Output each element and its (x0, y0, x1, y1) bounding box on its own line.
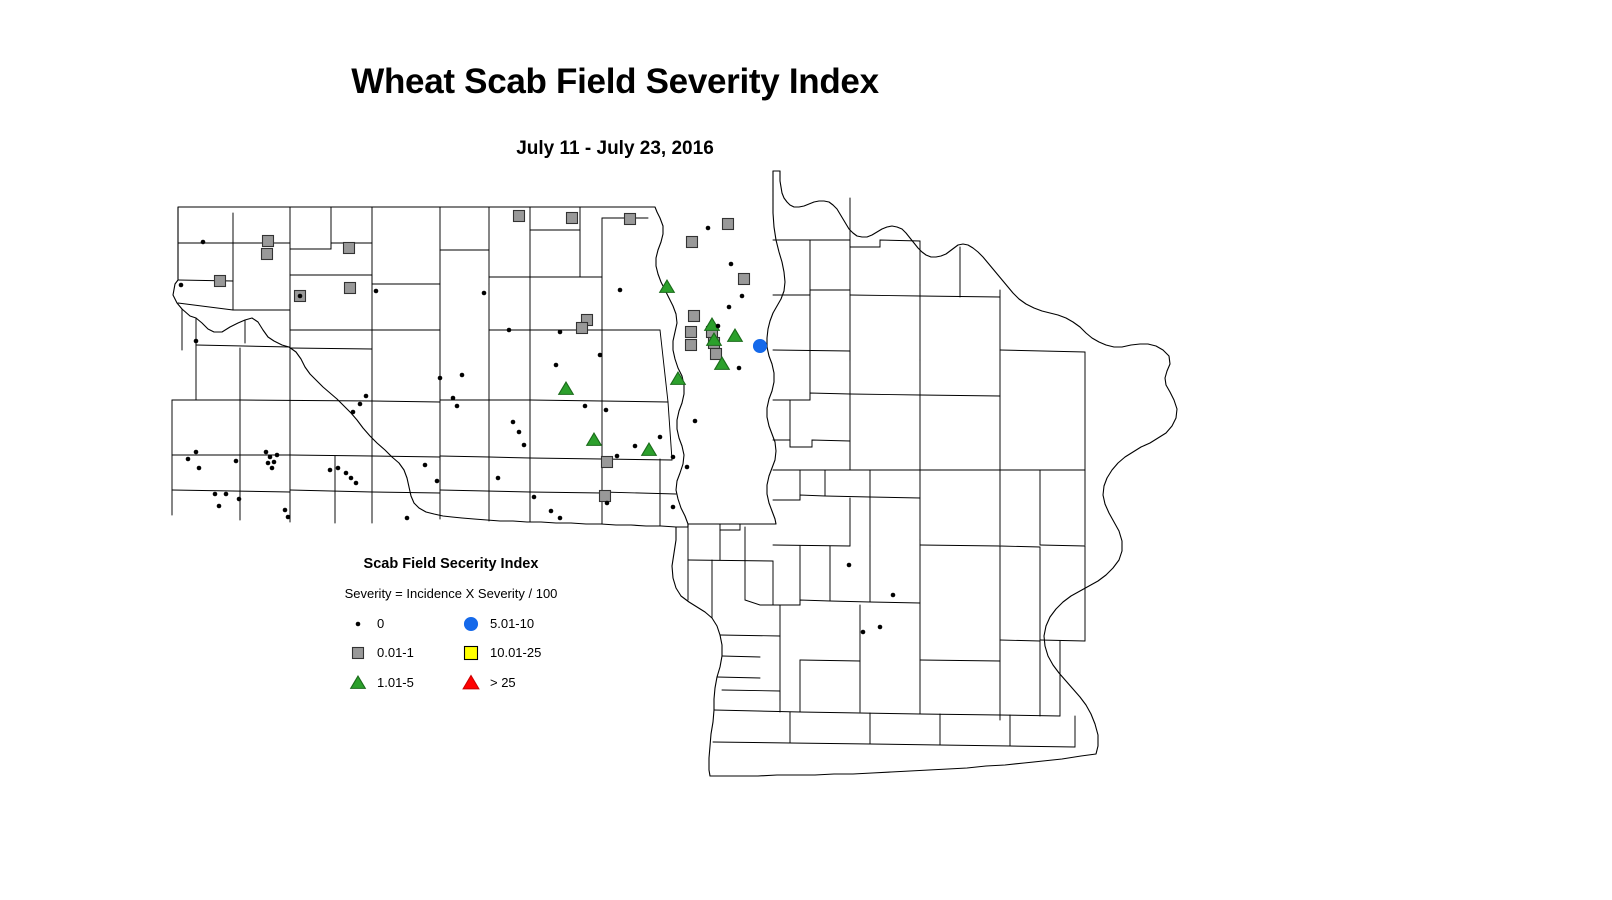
severity-point (567, 213, 578, 224)
severity-point (234, 459, 238, 463)
county-boundary (172, 490, 290, 492)
severity-point (554, 363, 558, 367)
severity-point (286, 515, 290, 519)
screenshot-root: Wheat Scab Field Severity Index July 11 … (0, 0, 1612, 900)
severity-point (723, 219, 734, 230)
severity-point (438, 376, 442, 380)
severity-point (706, 226, 710, 230)
legend-swatch (353, 648, 364, 659)
severity-point (598, 353, 602, 357)
severity-point (583, 404, 587, 408)
severity-point (558, 330, 562, 334)
legend-label-0: 0 (377, 616, 384, 631)
legend-label-3: 5.01-10 (490, 616, 534, 631)
severity-point (224, 492, 228, 496)
legend-swatch (356, 622, 360, 626)
severity-point (344, 243, 355, 254)
severity-point (686, 327, 697, 338)
severity-point (264, 450, 268, 454)
severity-point (344, 471, 348, 475)
severity-point (686, 340, 697, 351)
severity-point (262, 249, 273, 260)
severity-point (217, 504, 221, 508)
severity-point (328, 468, 332, 472)
severity-point (358, 402, 362, 406)
severity-point (272, 460, 276, 464)
severity-point (374, 289, 378, 293)
severity-point (405, 516, 409, 520)
severity-point (237, 497, 241, 501)
severity-point (507, 328, 511, 332)
legend-label-5: > 25 (490, 675, 516, 690)
legend-label-4: 10.01-25 (490, 645, 541, 660)
severity-point (604, 408, 608, 412)
severity-point (213, 492, 217, 496)
severity-point (727, 305, 731, 309)
severity-point (435, 479, 439, 483)
severity-point (511, 420, 515, 424)
severity-point (602, 457, 613, 468)
severity-point (754, 340, 767, 353)
legend-swatch (463, 676, 479, 689)
map-container (0, 0, 1612, 900)
legend-title: Scab Field Secerity Index (326, 556, 576, 572)
severity-point (517, 430, 521, 434)
severity-point (179, 283, 183, 287)
legend-swatch (351, 676, 366, 688)
severity-point (423, 463, 427, 467)
severity-point (283, 508, 287, 512)
severity-point (558, 516, 562, 520)
severity-point (194, 339, 198, 343)
severity-point (268, 455, 272, 459)
severity-point (711, 349, 722, 360)
legend-symbol-blue-circle-icon (459, 612, 483, 636)
severity-point (861, 630, 865, 634)
severity-point (633, 444, 637, 448)
severity-point (600, 491, 611, 502)
severity-point (364, 394, 368, 398)
severity-point (270, 466, 274, 470)
county-boundary (1040, 640, 1085, 641)
severity-point (460, 373, 464, 377)
legend-label-2: 1.01-5 (377, 675, 414, 690)
severity-point (605, 501, 609, 505)
severity-point (740, 294, 744, 298)
severity-point (847, 563, 851, 567)
severity-point (625, 214, 636, 225)
legend-swatch (465, 647, 478, 660)
severity-point (197, 466, 201, 470)
severity-point (345, 283, 356, 294)
severity-point (263, 236, 274, 247)
severity-point (522, 443, 526, 447)
severity-point (878, 625, 882, 629)
legend-symbol-dot-icon (346, 612, 370, 636)
severity-point (215, 276, 226, 287)
legend-formula: Severity = Incidence X Severity / 100 (325, 586, 577, 601)
severity-point (194, 450, 198, 454)
severity-point (737, 366, 741, 370)
state-outline (672, 171, 1177, 776)
severity-point (658, 435, 662, 439)
county-boundary (290, 455, 372, 456)
severity-point (685, 465, 689, 469)
severity-point (186, 457, 190, 461)
severity-point (354, 481, 358, 485)
severity-point (891, 593, 895, 597)
severity-point (266, 461, 270, 465)
severity-point (671, 455, 675, 459)
severity-point (496, 476, 500, 480)
state-outline-layer (173, 171, 1177, 776)
severity-point (298, 294, 302, 298)
severity-point (577, 323, 588, 334)
county-boundary (196, 345, 290, 347)
state-outline (173, 207, 688, 527)
legend-symbol-gray-square-icon (346, 641, 370, 665)
severity-point (349, 476, 353, 480)
legend-symbol-yellow-square-icon (459, 641, 483, 665)
severity-point (687, 237, 698, 248)
severity-point (615, 454, 619, 458)
severity-point (716, 324, 720, 328)
severity-point (693, 419, 697, 423)
severity-point (532, 495, 536, 499)
severity-point (451, 396, 455, 400)
severity-point (514, 211, 525, 222)
severity-point (351, 410, 355, 414)
severity-point (455, 404, 459, 408)
legend-label-1: 0.01-1 (377, 645, 414, 660)
severity-point (689, 311, 700, 322)
severity-point (482, 291, 486, 295)
severity-point (671, 505, 675, 509)
severity-point (201, 240, 205, 244)
severity-point (549, 509, 553, 513)
severity-point (739, 274, 750, 285)
county-boundary (290, 490, 372, 492)
map-legend: Scab Field Secerity Index Severity = Inc… (326, 556, 576, 706)
severity-point (729, 262, 733, 266)
severity-point (618, 288, 622, 292)
legend-symbol-red-triangle-icon (459, 671, 483, 695)
severity-point (336, 466, 340, 470)
severity-point (728, 329, 743, 341)
legend-symbol-green-triangle-icon (346, 671, 370, 695)
legend-swatch (465, 618, 478, 631)
severity-point (275, 453, 279, 457)
choropleth-map (0, 0, 1612, 900)
